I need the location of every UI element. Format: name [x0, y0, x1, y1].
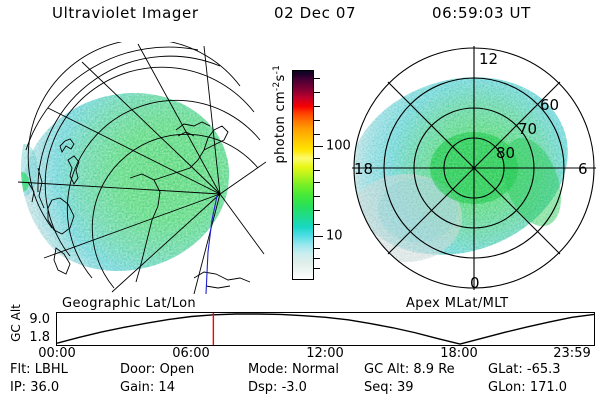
- mlt-label-18: 18: [354, 160, 373, 178]
- colorbar-tick: [314, 106, 320, 107]
- colorbar-tick: [314, 92, 320, 93]
- colorbar-axis-label: photon cm-2s-1: [272, 54, 288, 174]
- status-mode-label: Mode:: [248, 362, 288, 377]
- status-glat: GLat: -65.3: [488, 362, 561, 377]
- status-gain-value: 14: [158, 380, 175, 395]
- status-flt-value: LBHL: [35, 362, 68, 377]
- orbit-plot-svg: [57, 313, 594, 345]
- status-ip: IP: 36.0: [10, 380, 59, 395]
- mlt-spokes: [352, 46, 596, 290]
- status-door: Door: Open: [120, 362, 194, 377]
- status-gcalt-label: GC Alt:: [364, 362, 409, 377]
- status-door-label: Door:: [120, 362, 155, 377]
- header-bar: Ultraviolet Imager 02 Dec 07 06:59:03 UT: [0, 4, 600, 30]
- orbit-ytick-top: 9.0: [18, 312, 50, 327]
- colorbar-tick: [314, 258, 320, 259]
- colorbar-tick: [314, 120, 320, 121]
- status-flt-label: Flt:: [10, 362, 31, 377]
- status-dsp: Dsp: -3.0: [248, 380, 307, 395]
- colorbar-tick: [314, 78, 320, 79]
- colorbar-gradient: [292, 70, 314, 280]
- mlat-label-80: 80: [496, 144, 515, 162]
- status-glat-value: -65.3: [527, 362, 561, 377]
- status-glon-label: GLon:: [488, 380, 526, 395]
- observation-date: 02 Dec 07: [274, 4, 356, 22]
- status-glon-value: 171.0: [530, 380, 567, 395]
- status-mode: Mode: Normal: [248, 362, 339, 377]
- orbit-xtick-0600: 06:00: [172, 346, 209, 361]
- orbit-altitude-panel[interactable]: GC Alt 9.0 1.8 00:00 06:00 12:00 18:00 2…: [0, 308, 600, 356]
- orbit-ytick-bottom: 1.8: [18, 330, 50, 345]
- mlt-label-12: 12: [479, 50, 498, 68]
- geographic-image-panel[interactable]: [8, 42, 266, 294]
- colorbar-unit-s: s: [273, 74, 288, 81]
- apex-plot-svg: 12 6 0 18 60 70 80: [348, 42, 600, 294]
- status-gcalt-value: 8.9 Re: [413, 362, 454, 377]
- status-dsp-value: -3.0: [282, 380, 307, 395]
- status-seq-label: Seq:: [364, 380, 393, 395]
- orbit-xtick-1800: 18:00: [440, 346, 477, 361]
- mlat-label-60: 60: [540, 96, 559, 114]
- instrument-title: Ultraviolet Imager: [52, 4, 199, 22]
- orbit-altitude-curve: [57, 314, 594, 344]
- status-glon: GLon: 171.0: [488, 380, 567, 395]
- colorbar-tick: [314, 158, 320, 159]
- orbit-xtick-1200: 12:00: [306, 346, 343, 361]
- mlat-label-70: 70: [518, 120, 537, 138]
- colorbar-tick: [314, 134, 320, 135]
- status-seq: Seq: 39: [364, 380, 414, 395]
- status-ip-value: 36.0: [30, 380, 59, 395]
- colorbar-unit-exp1: -2: [272, 82, 282, 92]
- observation-time: 06:59:03 UT: [432, 4, 531, 22]
- colorbar-tick: [314, 196, 320, 197]
- status-ip-label: IP:: [10, 380, 26, 395]
- mlt-label-0: 0: [470, 274, 480, 292]
- status-block: Flt: LBHL Door: Open Mode: Normal GC Alt…: [0, 362, 600, 400]
- status-mode-value: Normal: [292, 362, 339, 377]
- colorbar-unit-main: photon cm: [273, 91, 288, 163]
- colorbar-panel: photon cm-2s-1 100 10: [266, 56, 354, 294]
- colorbar-tick: [314, 170, 320, 171]
- status-seq-value: 39: [397, 380, 414, 395]
- geographic-plot-svg: [8, 42, 266, 294]
- status-gain-label: Gain:: [120, 380, 154, 395]
- orbit-xtick-2359: 23:59: [553, 346, 590, 361]
- colorbar-tick: [314, 224, 320, 225]
- status-flt: Flt: LBHL: [10, 362, 68, 377]
- status-glat-label: GLat:: [488, 362, 523, 377]
- colorbar-tick: [314, 210, 320, 211]
- colorbar-tick-major-100: [314, 146, 323, 147]
- colorbar-tick: [314, 182, 320, 183]
- orbit-plot-box: [56, 312, 595, 346]
- colorbar-tick: [314, 248, 320, 249]
- orbit-xtick-0000: 00:00: [38, 346, 75, 361]
- colorbar-label-10: 10: [326, 230, 343, 243]
- apex-image-panel[interactable]: 12 6 0 18 60 70 80: [348, 42, 600, 294]
- status-dsp-label: Dsp:: [248, 380, 277, 395]
- status-door-value: Open: [160, 362, 195, 377]
- colorbar-unit-exp2: -1: [272, 65, 282, 75]
- colorbar-tick: [314, 268, 320, 269]
- status-gcalt: GC Alt: 8.9 Re: [364, 362, 455, 377]
- status-gain: Gain: 14: [120, 380, 175, 395]
- mlt-label-6: 6: [578, 160, 588, 178]
- colorbar-tick-major-10: [314, 236, 323, 237]
